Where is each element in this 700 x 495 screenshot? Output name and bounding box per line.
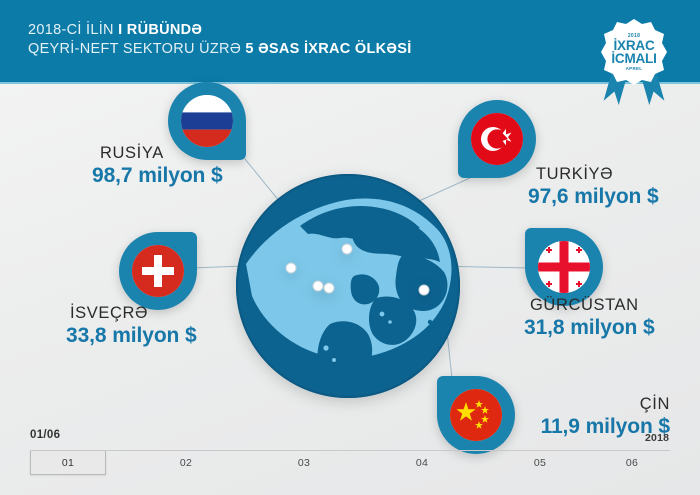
map-dot-georgia: [324, 283, 334, 293]
map-location-dots: [234, 172, 462, 400]
pin-turkey[interactable]: [458, 100, 536, 178]
map-dot-switzerland: [286, 263, 296, 273]
globe-graphic: [234, 172, 462, 400]
pager-tab-02[interactable]: 02: [148, 451, 224, 475]
country-name: GÜRCÜSTAN: [530, 295, 655, 315]
pager-tab-03[interactable]: 03: [266, 451, 342, 475]
pager: 01/06 01 02 03 04 05 06: [0, 428, 700, 495]
country-label-georgia: GÜRCÜSTAN 31,8 milyon $: [524, 295, 655, 340]
map-dot-turkey: [313, 281, 323, 291]
country-value: 97,6 milyon $: [528, 184, 659, 209]
infographic-canvas: 2018-Cİ İLİN I RÜBÜNDƏ QEYRİ-NEFT SEKTOR…: [0, 0, 700, 495]
country-label-switzerland: İSVEÇRƏ 33,8 milyon $: [66, 303, 197, 348]
pager-tab-06[interactable]: 06: [594, 451, 670, 475]
pager-count-label: 01/06: [30, 429, 60, 441]
switzerland-flag-icon: [132, 245, 184, 297]
turkey-flag-icon: [471, 113, 523, 165]
country-name: ÇİN: [530, 394, 670, 414]
pager-tab-01[interactable]: 01: [30, 451, 106, 475]
country-name: İSVEÇRƏ: [70, 303, 197, 323]
country-value: 31,8 milyon $: [524, 315, 655, 340]
pager-tab-04[interactable]: 04: [384, 451, 460, 475]
country-name: TURKİYƏ: [536, 164, 659, 184]
pager-tab-05[interactable]: 05: [502, 451, 578, 475]
russia-flag-icon: [181, 95, 233, 147]
map-dot-russia: [342, 244, 352, 254]
georgia-flag-icon: [538, 241, 590, 293]
pin-switzerland[interactable]: [119, 232, 197, 310]
country-value: 33,8 milyon $: [66, 323, 197, 348]
pager-tabs: 01 02 03 04 05 06: [30, 451, 670, 475]
country-label-turkey: TURKİYƏ 97,6 milyon $: [528, 164, 659, 209]
country-label-russia: RUSİYA 98,7 milyon $: [92, 143, 223, 188]
map-dot-china: [419, 285, 429, 295]
country-value: 98,7 milyon $: [92, 163, 223, 188]
country-name: RUSİYA: [100, 143, 223, 163]
